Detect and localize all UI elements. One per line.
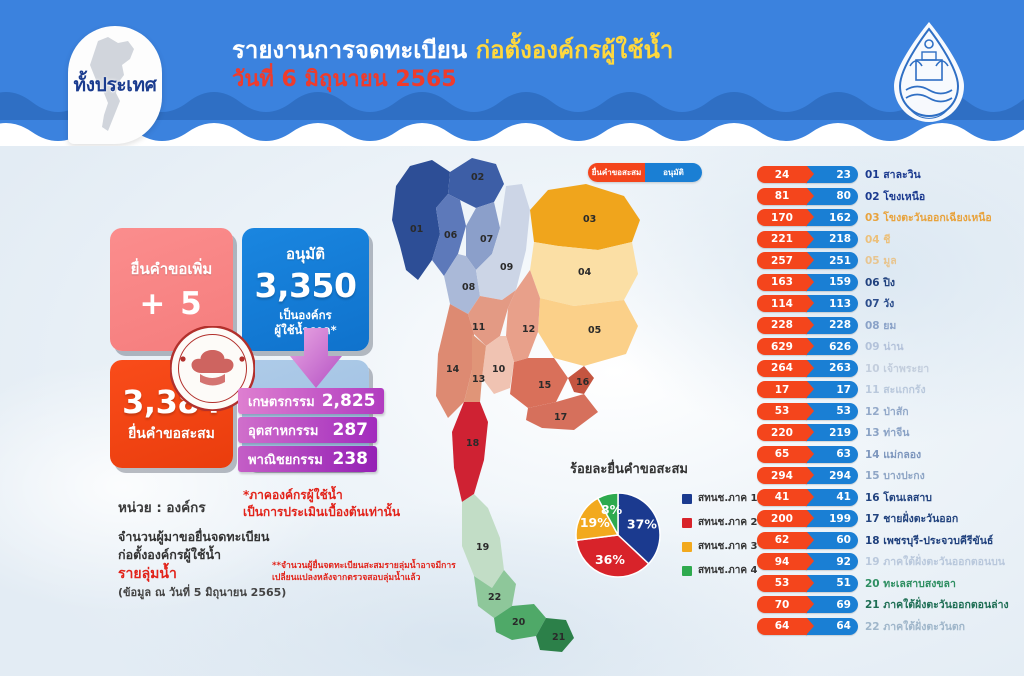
table-row[interactable]: 656314 แม่กลอง bbox=[757, 444, 1019, 466]
basin-label-16: 17 ชายฝั่งตะวันออก bbox=[865, 510, 958, 527]
legend-text-0: สทนช.ภาค 1 bbox=[698, 491, 757, 506]
country-badge-label: ทั้งประเทศ bbox=[74, 70, 157, 100]
pie-chart-block: ร้อยละยื่นคำขอสะสม 37%36%19%8% สทนช.ภาค … bbox=[566, 458, 766, 587]
breakdown-label-0: เกษตรกรรม bbox=[248, 391, 315, 412]
table-row[interactable]: 646422 ภาคใต้ฝั่งตะวันตก bbox=[757, 616, 1019, 638]
legend-swatch-2 bbox=[682, 542, 692, 552]
pie-label-0: 37% bbox=[627, 517, 657, 532]
submitted-value-15: 41 bbox=[757, 489, 807, 506]
map-number-04: 04 bbox=[578, 267, 592, 278]
single-star-footnote: *ภาคองค์กรผู้ใช้น้ำ เป็นการประเมินเบื้อง… bbox=[243, 487, 400, 521]
header-title-block: รายงานการจดทะเบียน ก่อตั้งองค์กรผู้ใช้น้… bbox=[232, 36, 673, 94]
basin-label-10: 11 สะแกกรัง bbox=[865, 381, 926, 398]
table-row[interactable]: 535120 ทะเลสาบสงขลา bbox=[757, 573, 1019, 595]
breakdown-label-1: อุตสาหกรรม bbox=[248, 420, 318, 441]
submitted-value-17: 62 bbox=[757, 532, 807, 549]
basin-label-4: 05 มูล bbox=[865, 252, 897, 269]
description-line2: ก่อตั้งองค์กรผู้ใช้น้ำ bbox=[118, 546, 286, 564]
page-header: ทั้งประเทศ รายงานการจดทะเบียน ก่อตั้งองค… bbox=[0, 0, 1024, 146]
down-arrow-icon bbox=[288, 328, 344, 390]
table-row[interactable]: 62962609 น่าน bbox=[757, 336, 1019, 358]
red-card-label: ยื่นคำขอสะสม bbox=[128, 423, 215, 445]
country-badge: ทั้งประเทศ bbox=[68, 26, 162, 144]
map-number-13: 13 bbox=[472, 374, 485, 385]
pie-legend-item-0[interactable]: สทนช.ภาค 1 bbox=[682, 491, 757, 506]
map-number-02: 02 bbox=[471, 172, 484, 183]
submitted-value-1: 81 bbox=[757, 188, 807, 205]
basin-label-19: 20 ทะเลสาบสงขลา bbox=[865, 575, 956, 592]
basin-data-list: 242301 สาละวิน818002 โขงเหนือ17016203 โข… bbox=[757, 164, 1019, 637]
blue-card-label: อนุมัติ bbox=[286, 242, 325, 266]
basin-label-6: 07 วัง bbox=[865, 295, 894, 312]
basin-label-5: 06 ปิง bbox=[865, 274, 895, 291]
basin-label-13: 14 แม่กลอง bbox=[865, 446, 921, 463]
submitted-value-20: 70 bbox=[757, 596, 807, 613]
submitted-value-14: 294 bbox=[757, 467, 807, 484]
map-number-15: 15 bbox=[538, 380, 551, 391]
table-row[interactable]: 29429415 บางปะกง bbox=[757, 465, 1019, 487]
star-line2: เป็นการประเมินเบื้องต้นเท่านั้น bbox=[243, 504, 400, 521]
submitted-value-7: 228 bbox=[757, 317, 807, 334]
map-number-20: 20 bbox=[512, 617, 526, 628]
submitted-value-4: 257 bbox=[757, 252, 807, 269]
page-title: รายงานการจดทะเบียน ก่อตั้งองค์กรผู้ใช้น้… bbox=[232, 36, 673, 64]
table-row[interactable]: 818002 โขงเหนือ bbox=[757, 186, 1019, 208]
legend-swatch-0 bbox=[682, 494, 692, 504]
pie-label-1: 36% bbox=[595, 552, 625, 567]
basin-label-2: 03 โขงตะวันออกเฉียงเหนือ bbox=[865, 209, 992, 226]
table-row[interactable]: 16315906 ปิง bbox=[757, 272, 1019, 294]
breakdown-value-2: 238 bbox=[333, 449, 369, 469]
map-number-01: 01 bbox=[410, 224, 423, 235]
pie-chart-legend: สทนช.ภาค 1สทนช.ภาค 2สทนช.ภาค 3สทนช.ภาค 4 bbox=[682, 491, 757, 587]
title-highlight-part: ก่อตั้งองค์กรผู้ใช้น้ำ bbox=[476, 36, 674, 64]
basin-label-18: 19 ภาคใต้ฝั่งตะวันออกตอนบน bbox=[865, 553, 1005, 570]
table-row[interactable]: 17016203 โขงตะวันออกเฉียงเหนือ bbox=[757, 207, 1019, 229]
map-number-16: 16 bbox=[576, 377, 590, 388]
submitted-value-3: 221 bbox=[757, 231, 807, 248]
table-row[interactable]: 626018 เพชรบุรี-ประจวบคีรีขันธ์ bbox=[757, 530, 1019, 552]
pie-chart-title: ร้อยละยื่นคำขอสะสม bbox=[570, 458, 766, 479]
unit-note: หน่วย : องค์กร bbox=[118, 496, 206, 518]
map-number-17: 17 bbox=[554, 412, 567, 423]
star-line1: *ภาคองค์กรผู้ใช้น้ำ bbox=[243, 487, 400, 504]
table-row[interactable]: 171711 สะแกกรัง bbox=[757, 379, 1019, 401]
breakdown-banner-commerce: พาณิชยกรรม 238 bbox=[238, 446, 377, 472]
breakdown-label-2: พาณิชยกรรม bbox=[248, 449, 323, 470]
map-region-19 bbox=[462, 494, 504, 588]
map-number-22: 22 bbox=[488, 592, 501, 603]
map-number-06: 06 bbox=[444, 230, 458, 241]
map-region-18 bbox=[452, 402, 488, 502]
report-date: วันที่ 6 มิถุนายน 2565 bbox=[232, 66, 673, 94]
pie-legend-item-3[interactable]: สทนช.ภาค 4 bbox=[682, 563, 757, 578]
submitted-value-12: 220 bbox=[757, 424, 807, 441]
submitted-value-2: 170 bbox=[757, 209, 807, 226]
table-row[interactable]: 26426310 เจ้าพระยา bbox=[757, 358, 1019, 380]
submitted-value-13: 65 bbox=[757, 446, 807, 463]
submitted-value-0: 24 bbox=[757, 166, 807, 183]
legend-approved: อนุมัติ bbox=[645, 163, 702, 182]
map-number-08: 08 bbox=[462, 282, 476, 293]
submitted-value-19: 53 bbox=[757, 575, 807, 592]
table-row[interactable]: 414116 โตนเลสาบ bbox=[757, 487, 1019, 509]
legend-text-1: สทนช.ภาค 2 bbox=[698, 515, 757, 530]
table-row[interactable]: 11411307 วัง bbox=[757, 293, 1019, 315]
map-legend: ยื่นคำขอสะสม อนุมัติ bbox=[588, 163, 702, 182]
submitted-value-9: 264 bbox=[757, 360, 807, 377]
description-small: (ข้อมูล ณ วันที่ 5 มิถุนายน 2565) bbox=[118, 585, 286, 601]
map-number-14: 14 bbox=[446, 364, 460, 375]
table-row[interactable]: 242301 สาละวิน bbox=[757, 164, 1019, 186]
basin-label-11: 12 ป่าสัก bbox=[865, 403, 909, 420]
map-number-07: 07 bbox=[480, 234, 493, 245]
blue-card-value: 3,350 bbox=[255, 266, 357, 305]
basin-label-17: 18 เพชรบุรี-ประจวบคีรีขันธ์ bbox=[865, 532, 993, 549]
breakdown-banner-industry: อุตสาหกรรม 287 bbox=[238, 417, 377, 443]
table-row[interactable]: 706921 ภาคใต้ฝั่งตะวันออกตอนล่าง bbox=[757, 594, 1019, 616]
legend-swatch-1 bbox=[682, 518, 692, 528]
description-note: จำนวนผู้มาขอยื่นจดทะเบียน ก่อตั้งองค์กรผ… bbox=[118, 528, 286, 600]
map-number-18: 18 bbox=[466, 438, 480, 449]
basin-label-9: 10 เจ้าพระยา bbox=[865, 360, 929, 377]
basin-label-8: 09 น่าน bbox=[865, 338, 904, 355]
map-number-05: 05 bbox=[588, 325, 601, 336]
description-line1: จำนวนผู้มาขอยื่นจดทะเบียน bbox=[118, 528, 286, 546]
map-number-09: 09 bbox=[500, 262, 513, 273]
pie-legend-item-2[interactable]: สทนช.ภาค 3 bbox=[682, 539, 757, 554]
table-row[interactable]: 949219 ภาคใต้ฝั่งตะวันออกตอนบน bbox=[757, 551, 1019, 573]
table-row[interactable]: 22021913 ท่าจีน bbox=[757, 422, 1019, 444]
pie-legend-item-1[interactable]: สทนช.ภาค 2 bbox=[682, 515, 757, 530]
basin-label-20: 21 ภาคใต้ฝั่งตะวันออกตอนล่าง bbox=[865, 596, 1009, 613]
rid-water-drop-seal bbox=[886, 20, 972, 126]
submitted-value-16: 200 bbox=[757, 510, 807, 527]
breakdown-banner-agriculture: เกษตรกรรม 2,825 bbox=[238, 388, 384, 414]
submitted-value-21: 64 bbox=[757, 618, 807, 635]
legend-swatch-3 bbox=[682, 566, 692, 576]
basin-label-3: 04 ชี bbox=[865, 231, 890, 248]
table-row[interactable]: 20019917 ชายฝั่งตะวันออก bbox=[757, 508, 1019, 530]
submitted-value-5: 163 bbox=[757, 274, 807, 291]
legend-text-3: สทนช.ภาค 4 bbox=[698, 563, 757, 578]
breakdown-value-0: 2,825 bbox=[322, 391, 376, 411]
description-red: รายลุ่มน้ำ bbox=[118, 564, 286, 584]
legend-submitted: ยื่นคำขอสะสม bbox=[588, 163, 645, 182]
pink-card-label: ยื่นคำขอเพิ่ม bbox=[131, 257, 213, 281]
blue-card-sub1: เป็นองค์กร bbox=[279, 308, 331, 322]
basin-label-7: 08 ยม bbox=[865, 317, 896, 334]
infographic-page: ทั้งประเทศ รายงานการจดทะเบียน ก่อตั้งองค… bbox=[0, 0, 1024, 676]
basin-label-14: 15 บางปะกง bbox=[865, 467, 925, 484]
basin-label-21: 22 ภาคใต้ฝั่งตะวันตก bbox=[865, 618, 965, 635]
table-row[interactable]: 25725105 มูล bbox=[757, 250, 1019, 272]
submitted-value-8: 629 bbox=[757, 338, 807, 355]
pie-label-3: 8% bbox=[601, 502, 623, 517]
map-number-11: 11 bbox=[472, 322, 485, 333]
table-row[interactable]: 22822808 ยม bbox=[757, 315, 1019, 337]
map-number-03: 03 bbox=[583, 214, 596, 225]
map-number-19: 19 bbox=[476, 542, 489, 553]
basin-label-12: 13 ท่าจีน bbox=[865, 424, 909, 441]
title-plain-part: รายงานการจดทะเบียน bbox=[232, 36, 467, 64]
pie-chart[interactable]: 37%36%19%8% bbox=[566, 485, 676, 585]
map-number-21: 21 bbox=[552, 632, 565, 643]
submitted-value-10: 17 bbox=[757, 381, 807, 398]
table-row[interactable]: 535312 ป่าสัก bbox=[757, 401, 1019, 423]
map-number-10: 10 bbox=[492, 364, 506, 375]
submitted-value-18: 94 bbox=[757, 553, 807, 570]
submitted-value-6: 114 bbox=[757, 295, 807, 312]
breakdown-value-1: 287 bbox=[333, 420, 369, 440]
legend-text-2: สทนช.ภาค 3 bbox=[698, 539, 757, 554]
basin-label-0: 01 สาละวิน bbox=[865, 166, 921, 183]
map-number-12: 12 bbox=[522, 324, 535, 335]
basin-label-15: 16 โตนเลสาบ bbox=[865, 489, 932, 506]
basin-label-1: 02 โขงเหนือ bbox=[865, 188, 925, 205]
pie-label-2: 19% bbox=[580, 515, 610, 530]
submitted-value-11: 53 bbox=[757, 403, 807, 420]
pink-card-value: + 5 bbox=[139, 286, 203, 322]
table-row[interactable]: 22121804 ชี bbox=[757, 229, 1019, 251]
